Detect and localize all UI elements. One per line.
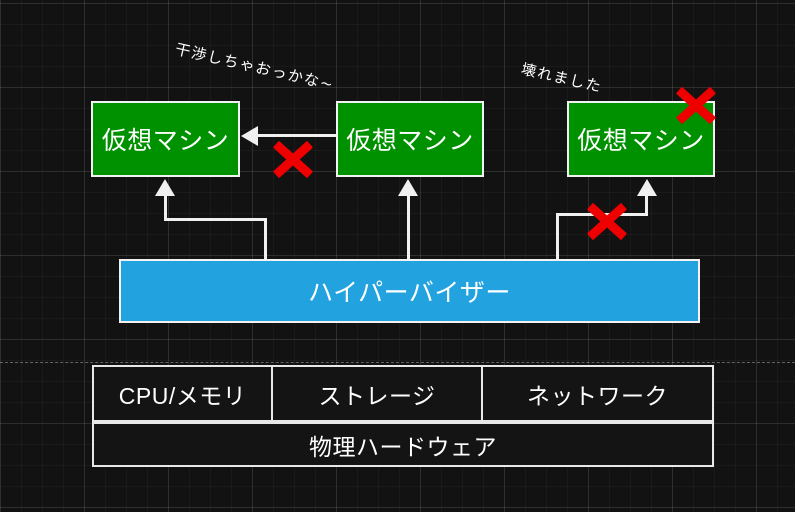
connector-hv-to-vm1-drop (264, 218, 267, 261)
note-interference: 干渉しちゃおっかな~ (173, 38, 336, 95)
connector-hv-to-vm2 (407, 196, 410, 261)
x-mark-vm2-to-vm1-link (270, 136, 316, 182)
hardware-cell-network-label: ネットワーク (527, 377, 668, 411)
physical-hardware-label: 物理ハードウェア (309, 428, 497, 462)
diagram-canvas: 干渉しちゃおっかな~ 壊れました 仮想マシン 仮想マシン 仮想マシン ハイパーバ… (0, 0, 795, 512)
hardware-cell-storage-label: ストレージ (318, 377, 435, 411)
arrow-head-vm2-bottom (398, 179, 418, 196)
arrow-head-vm3-bottom (637, 179, 657, 196)
connector-hv-to-vm1-run (164, 218, 267, 221)
physical-hardware-box[interactable]: 物理ハードウェア (92, 422, 714, 467)
vm-box-1-label: 仮想マシン (102, 121, 230, 157)
vm-box-2-label: 仮想マシン (346, 121, 474, 157)
connector-hv-to-vm3-riser (556, 213, 559, 261)
hardware-cell-network[interactable]: ネットワーク (481, 365, 714, 422)
virtual-physical-divider (0, 362, 795, 363)
arrow-head-vm1-left (241, 126, 258, 146)
arrow-head-vm1-bottom (155, 179, 175, 196)
hypervisor-box[interactable]: ハイパーバイザー (119, 259, 700, 323)
hypervisor-label: ハイパーバイザー (308, 273, 511, 309)
connector-hv-to-vm3-drop (645, 196, 648, 215)
x-mark-hv-to-vm3-link (584, 198, 630, 244)
vm-box-2[interactable]: 仮想マシン (336, 101, 484, 177)
note-broken: 壊れました (519, 58, 604, 97)
x-mark-vm3-box (673, 82, 719, 128)
hardware-cell-cpu-memory[interactable]: CPU/メモリ (92, 365, 273, 422)
vm-box-1[interactable]: 仮想マシン (91, 101, 240, 177)
hardware-cell-storage[interactable]: ストレージ (271, 365, 483, 422)
hardware-cell-cpu-memory-label: CPU/メモリ (119, 377, 246, 411)
